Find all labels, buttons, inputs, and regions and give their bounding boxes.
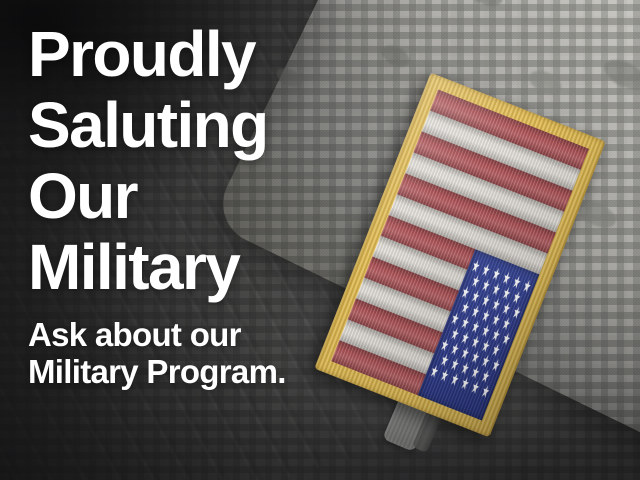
promo-banner: Proudly Saluting Our Military Ask about … [0, 0, 640, 480]
headline-line-4: Military [28, 232, 388, 303]
subheadline-line-1: Ask about our [28, 316, 388, 353]
banner-copy: Proudly Saluting Our Military Ask about … [28, 0, 388, 390]
headline-line-3: Our [28, 161, 388, 232]
headline: Proudly Saluting Our Military [28, 0, 388, 303]
subheadline: Ask about our Military Program. [28, 303, 388, 390]
subheadline-line-2: Military Program. [28, 353, 388, 390]
headline-line-1: Proudly [28, 19, 388, 90]
headline-line-2: Saluting [28, 90, 388, 161]
